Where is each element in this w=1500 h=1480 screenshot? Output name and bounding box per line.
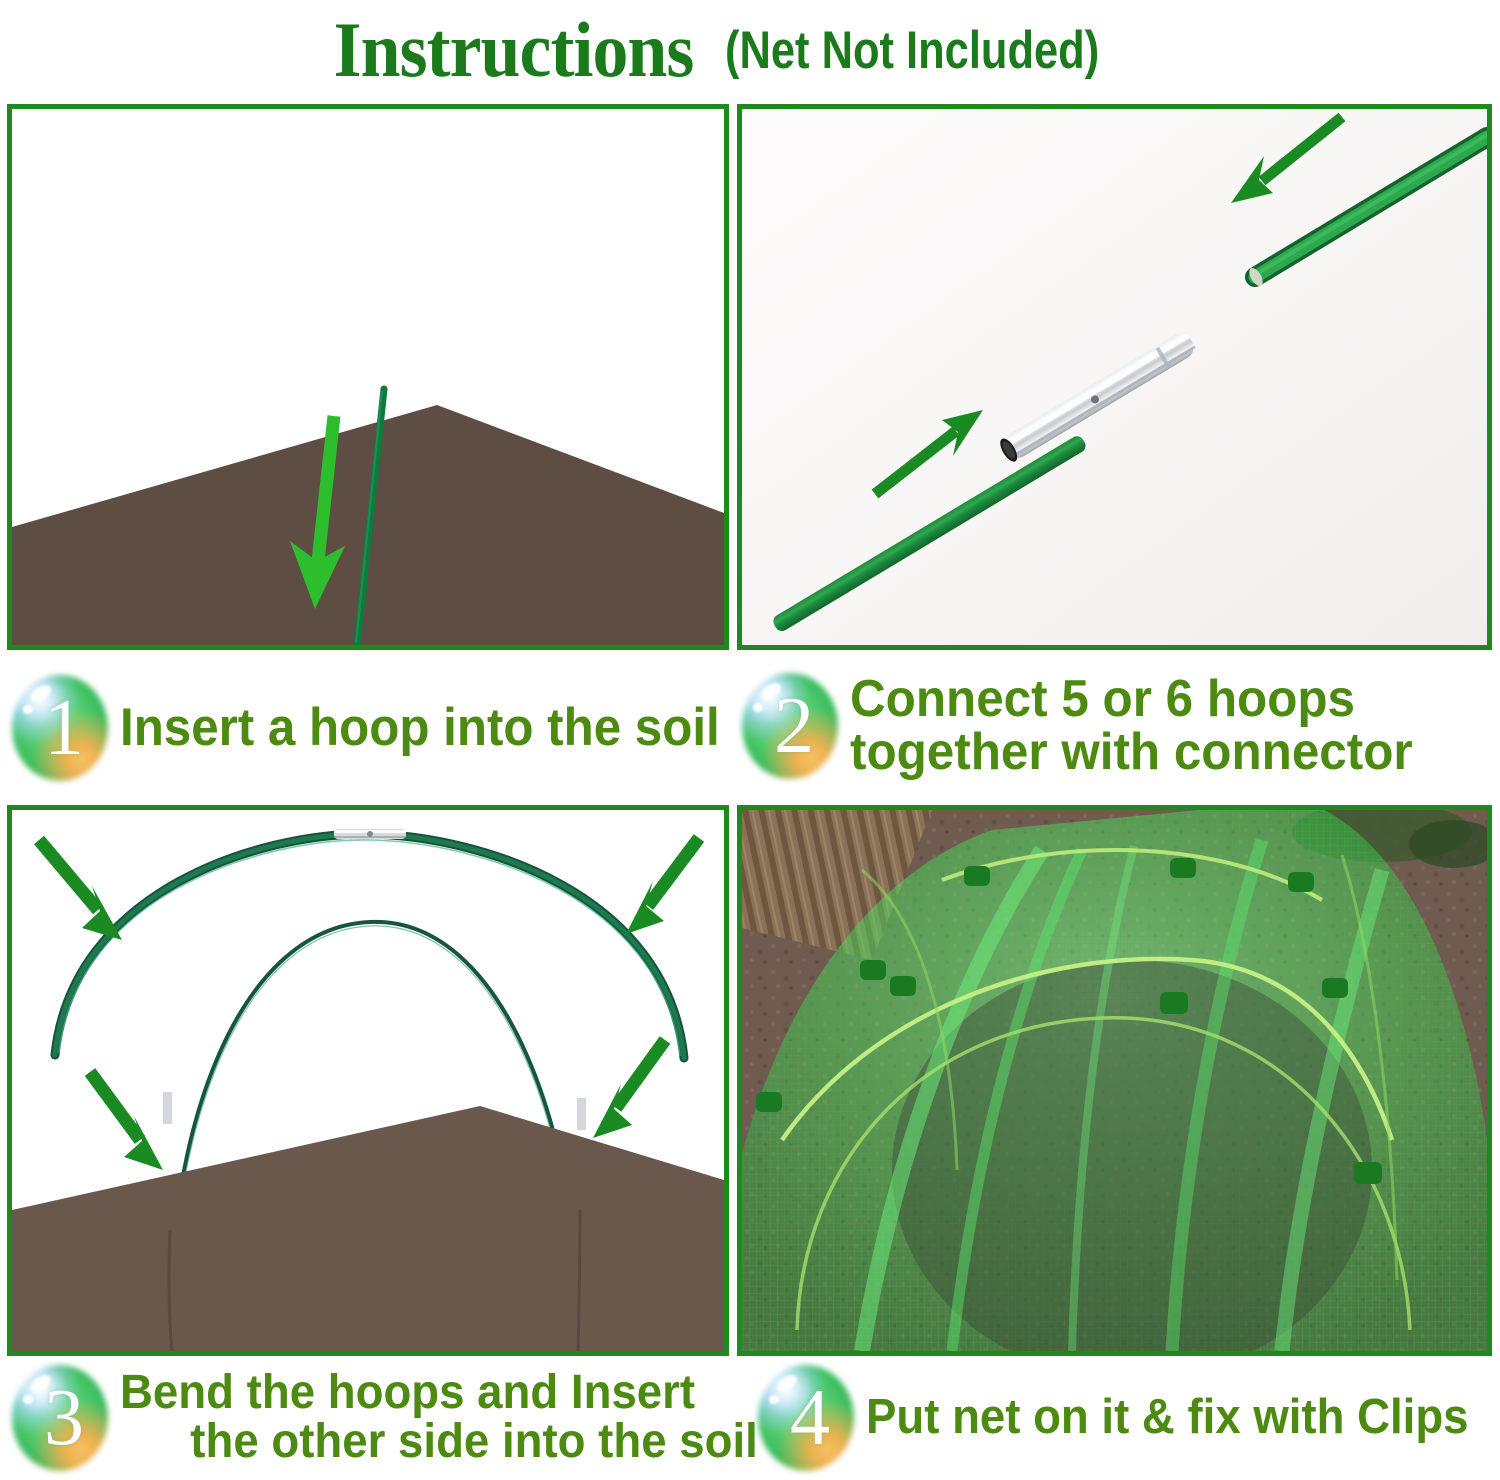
step-2-caption: 2 Connect 5 or 6 hoops together with con… [734, 655, 1500, 797]
connect-hoops-with-connector-photo [742, 109, 1487, 645]
step-4-text: Put net on it & fix with Clips [866, 1393, 1469, 1443]
step-1-text: Insert a hoop into the soil [120, 701, 720, 755]
step-1-image-panel [7, 104, 729, 650]
step-3-caption: 3 Bend the hoops and Insert the other si… [4, 1356, 734, 1480]
step-4-number: 4 [750, 1359, 860, 1477]
step-3-image-panel [7, 805, 729, 1356]
step-3-number: 3 [4, 1359, 114, 1477]
bend-hoops-into-soil-illustration [12, 810, 724, 1351]
step-1-caption: 1 Insert a hoop into the soil [4, 664, 734, 792]
step-2-line-2: together with connector [850, 726, 1413, 779]
step-1-number: 1 [4, 669, 114, 787]
page-title-main: Instructions [334, 11, 694, 89]
step-2-badge: 2 [734, 667, 844, 785]
step-1-line-1: Insert a hoop into the soil [120, 701, 720, 755]
step-4-badge: 4 [750, 1359, 860, 1477]
step-2-text: Connect 5 or 6 hoops together with conne… [850, 673, 1413, 779]
step-2-image-panel [737, 104, 1492, 650]
insert-hoop-into-soil-illustration [12, 109, 724, 645]
step-2-line-1: Connect 5 or 6 hoops [850, 673, 1413, 726]
step-4-image-panel [737, 805, 1492, 1356]
net-over-hoops-photo [742, 810, 1487, 1351]
page-title: Instructions (Net Not Included) [0, 0, 1500, 100]
step-3-text: Bend the hoops and Insert the other side… [120, 1369, 758, 1467]
step-3-line-1: Bend the hoops and Insert [120, 1369, 758, 1418]
page-title-note: (Net Not Included) [725, 24, 1099, 77]
step-4-line-1: Put net on it & fix with Clips [866, 1393, 1469, 1443]
step-1-badge: 1 [4, 669, 114, 787]
apex-connector [334, 829, 406, 839]
step-2-number: 2 [734, 667, 844, 785]
step-3-badge: 3 [4, 1359, 114, 1477]
step-3-line-2: the other side into the soil [120, 1418, 758, 1467]
step-4-caption: 4 Put net on it & fix with Clips [750, 1360, 1500, 1476]
